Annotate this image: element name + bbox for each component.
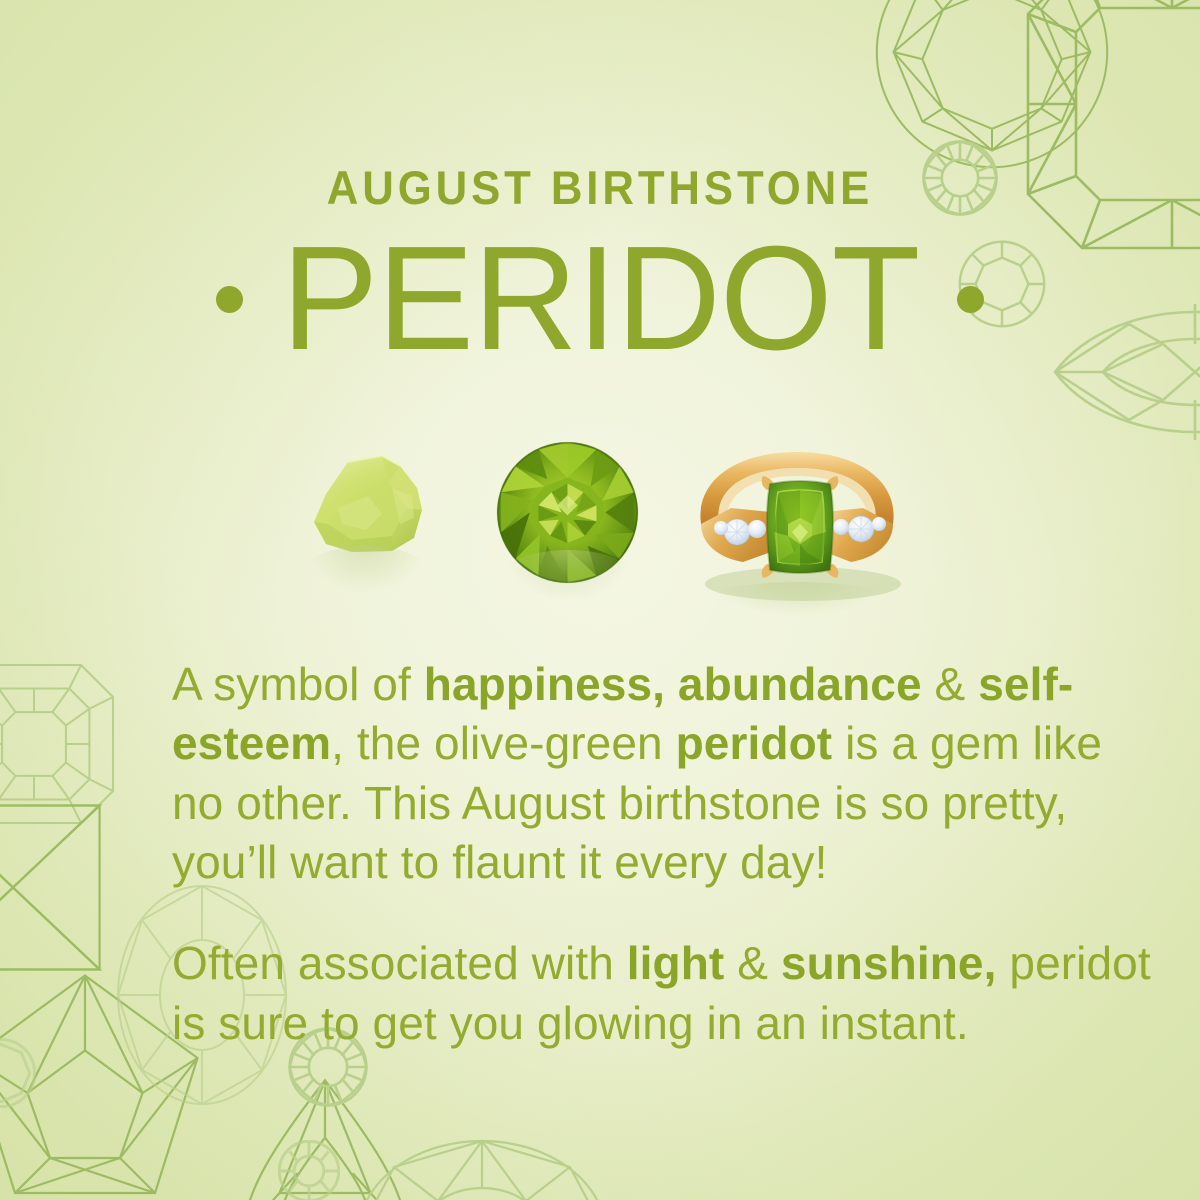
page-title: PERIDOT xyxy=(281,224,919,375)
title-bullet-left-icon xyxy=(216,286,243,313)
emphasis-text: happiness, abundance xyxy=(424,658,922,710)
eyebrow-heading: AUGUST BIRTHSTONE xyxy=(42,160,1158,215)
emphasis-text: light xyxy=(627,937,725,989)
rough-stone-reflection xyxy=(306,546,426,594)
ring-reflection xyxy=(708,582,888,616)
round-gem-reflection xyxy=(503,550,633,602)
title-row: PERIDOT xyxy=(0,224,1200,375)
body-text: A symbol of xyxy=(172,658,424,710)
poster-content: AUGUST BIRTHSTONE PERIDOT xyxy=(0,0,1200,1200)
body-text: Often associated with xyxy=(172,937,627,989)
gemstone-gallery xyxy=(0,430,1200,640)
title-bullet-right-icon xyxy=(957,286,984,313)
body-text: , the olive-green xyxy=(331,717,675,769)
emphasis-text: peridot xyxy=(676,717,833,769)
body-copy: A symbol of happiness, abundance & self-… xyxy=(172,655,1152,1053)
body-text: & xyxy=(922,658,979,710)
peridot-diamond-gold-ring-image xyxy=(675,432,920,607)
paragraph-1: A symbol of happiness, abundance & self-… xyxy=(172,655,1152,892)
rough-peridot-crystal-image xyxy=(296,448,436,588)
peridot-birthstone-poster: AUGUST BIRTHSTONE PERIDOT xyxy=(0,0,1200,1200)
round-cut-peridot-image xyxy=(495,440,640,585)
emphasis-text: sunshine, xyxy=(781,937,997,989)
paragraph-2: Often associated with light & sunshine, … xyxy=(172,934,1152,1053)
body-text: & xyxy=(724,937,781,989)
